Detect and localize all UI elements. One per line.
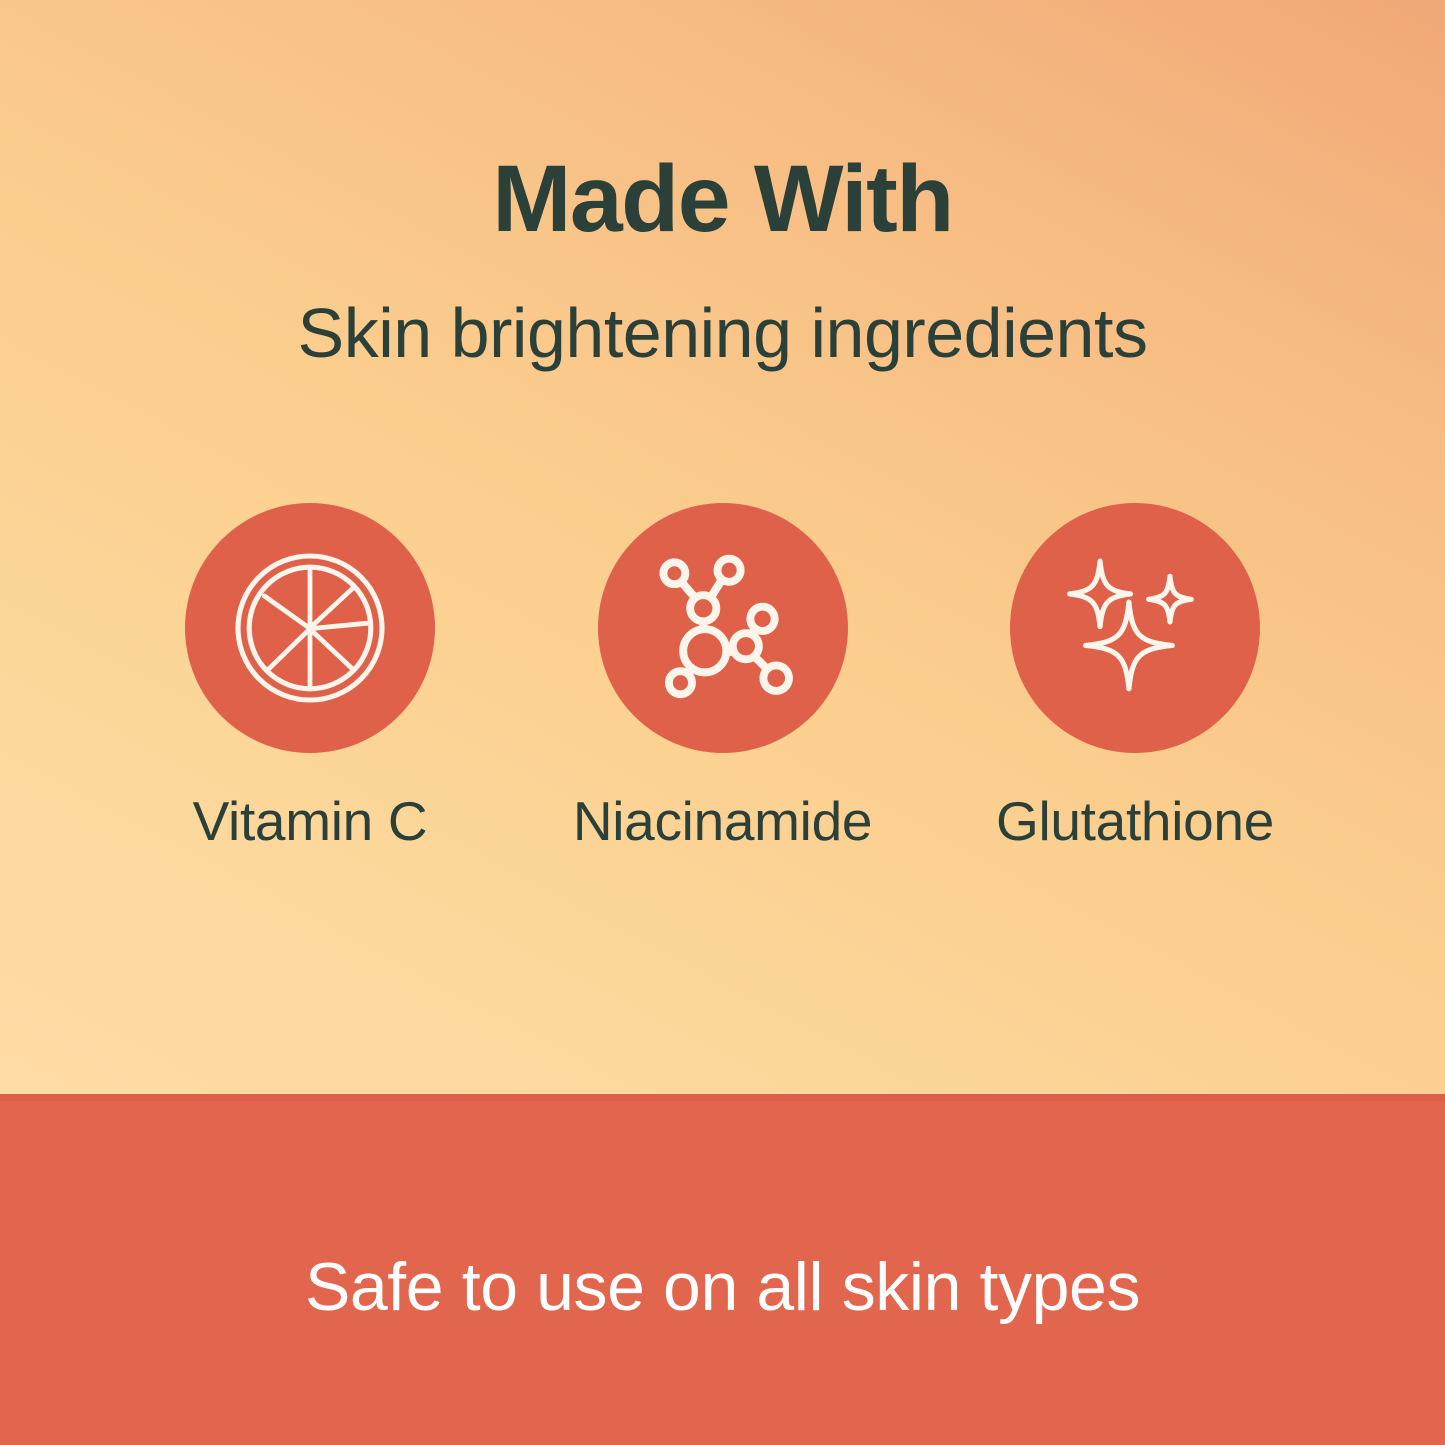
- ingredient-label: Glutathione: [996, 789, 1274, 853]
- ingredient-item-vitamin-c: Vitamin C: [110, 503, 510, 853]
- ingredient-icon-badge: [185, 503, 435, 753]
- sparkles-icon: [1059, 552, 1211, 704]
- page-subtitle: Skin brightening ingredients: [0, 297, 1445, 371]
- banner-top-edge: [0, 1094, 1445, 1101]
- citrus-slice-icon: [230, 548, 390, 708]
- ingredient-label: Vitamin C: [193, 789, 428, 853]
- banner-text: Safe to use on all skin types: [0, 1252, 1445, 1323]
- bottom-banner: Safe to use on all skin types: [0, 1094, 1445, 1445]
- hero-panel: Made With Skin brightening ingredients: [0, 0, 1445, 1094]
- ingredient-label: Niacinamide: [573, 789, 872, 853]
- ingredient-list: Vitamin C: [110, 503, 1335, 863]
- ingredient-icon-badge: [598, 503, 848, 753]
- ingredient-icon-badge: [1010, 503, 1260, 753]
- molecule-icon: [647, 552, 799, 704]
- page-title: Made With: [0, 152, 1445, 247]
- made-with-infographic: Made With Skin brightening ingredients: [0, 0, 1445, 1445]
- ingredient-item-niacinamide: Niacinamide: [523, 503, 923, 853]
- ingredient-item-glutathione: Glutathione: [935, 503, 1335, 853]
